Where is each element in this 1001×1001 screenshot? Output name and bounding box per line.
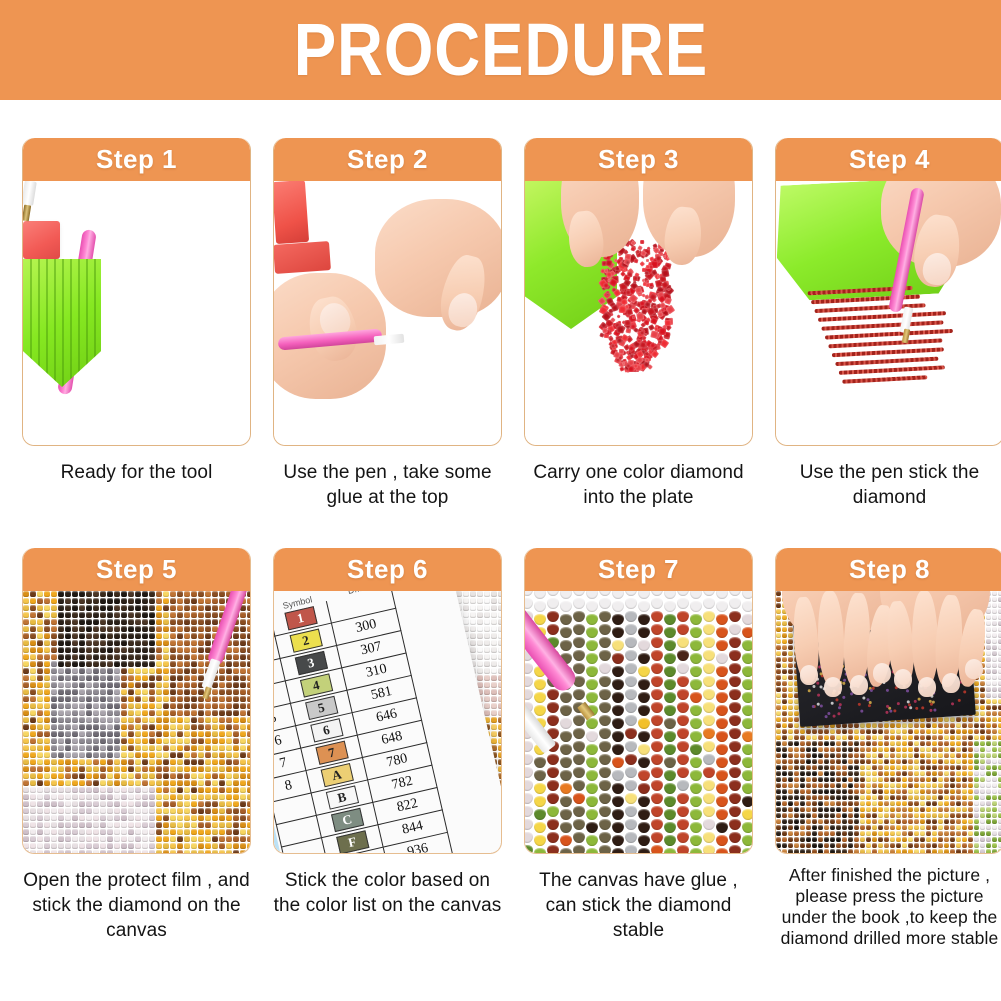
right-hand-icon <box>375 199 501 317</box>
step-7-caption: The canvas have glue , can stick the dia… <box>524 868 753 943</box>
page-title: PROCEDURE <box>293 13 707 87</box>
step-6-frame: Step 6 SymbolSymbolDMC112230033307443105… <box>273 548 502 854</box>
step-7-frame: Step 7 <box>524 548 753 854</box>
step-1-image <box>23 181 250 445</box>
step-6-title: Step 6 <box>347 554 428 585</box>
step-7-title: Step 7 <box>598 554 679 585</box>
step-2-frame: Step 2 <box>273 138 502 446</box>
step-4-title: Step 4 <box>849 144 930 175</box>
beaded-canvas-icon <box>23 591 250 853</box>
step-6-image: SymbolSymbolDMC1122300333074431055581666… <box>274 591 501 853</box>
step-6-caption: Stick the color based on the color list … <box>273 868 502 918</box>
step-3-title: Step 3 <box>598 144 679 175</box>
step-6-header: Step 6 <box>274 548 501 591</box>
step-8-image <box>776 591 1001 853</box>
step-card-4: Step 4 Use the pen stick the diamo <box>775 138 1001 510</box>
step-card-2: Step 2 U <box>273 138 502 510</box>
step-4-frame: Step 4 <box>775 138 1001 446</box>
step-8-header: Step 8 <box>776 548 1001 591</box>
step-1-title: Step 1 <box>96 144 177 175</box>
pen-tip-icon <box>374 334 405 346</box>
step-2-header: Step 2 <box>274 138 501 181</box>
step-4-header: Step 4 <box>776 138 1001 181</box>
diamond-tray-icon <box>23 259 101 387</box>
pen-tip-icon <box>23 181 37 206</box>
page-banner: PROCEDURE <box>0 0 1001 100</box>
step-card-3: Step 3 Carry one color diamond into the … <box>524 138 753 510</box>
step-1-caption: Ready for the tool <box>22 460 251 485</box>
step-card-7: Step 7 The canvas have glue , can stick … <box>524 548 753 949</box>
step-5-header: Step 5 <box>23 548 250 591</box>
step-1-header: Step 1 <box>23 138 250 181</box>
step-5-frame: Step 5 <box>22 548 251 854</box>
step-3-image <box>525 181 752 445</box>
step-1-frame: Step 1 <box>22 138 251 446</box>
glue-block-base-icon <box>274 241 331 274</box>
hands-icon <box>776 591 1001 853</box>
step-card-6: Step 6 SymbolSymbolDMC112230033307443105… <box>273 548 502 949</box>
step-3-frame: Step 3 <box>524 138 753 446</box>
glue-block-icon <box>274 181 309 244</box>
step-card-1: Step 1 Ready for the tool <box>22 138 251 510</box>
step-7-header: Step 7 <box>525 548 752 591</box>
pen-needle-icon <box>23 205 31 222</box>
step-5-title: Step 5 <box>96 554 177 585</box>
step-2-caption: Use the pen , take some glue at the top <box>273 460 502 510</box>
step-7-image <box>525 591 752 853</box>
step-5-caption: Open the protect film , and stick the di… <box>22 868 251 943</box>
steps-row-top: Step 1 Ready for the tool <box>0 138 1001 510</box>
step-card-8: Step 8 After finished the picture , plea… <box>775 548 1001 949</box>
step-3-caption: Carry one color diamond into the plate <box>524 460 753 510</box>
glue-square-icon <box>23 221 60 259</box>
step-4-image <box>776 181 1001 445</box>
step-2-image <box>274 181 501 445</box>
step-5-image <box>23 591 250 853</box>
step-8-title: Step 8 <box>849 554 930 585</box>
step-card-5: Step 5 Open the protect film , and stick… <box>22 548 251 949</box>
procedure-infographic: PROCEDURE Step 1 <box>0 0 1001 1001</box>
step-8-caption: After finished the picture , please pres… <box>775 865 1001 949</box>
step-2-title: Step 2 <box>347 144 428 175</box>
step-8-frame: Step 8 <box>775 548 1001 854</box>
step-4-caption: Use the pen stick the diamond <box>775 460 1001 510</box>
steps-row-bottom: Step 5 Open the protect film , and stick… <box>0 548 1001 949</box>
step-3-header: Step 3 <box>525 138 752 181</box>
diamond-beads-macro-icon <box>525 591 752 853</box>
